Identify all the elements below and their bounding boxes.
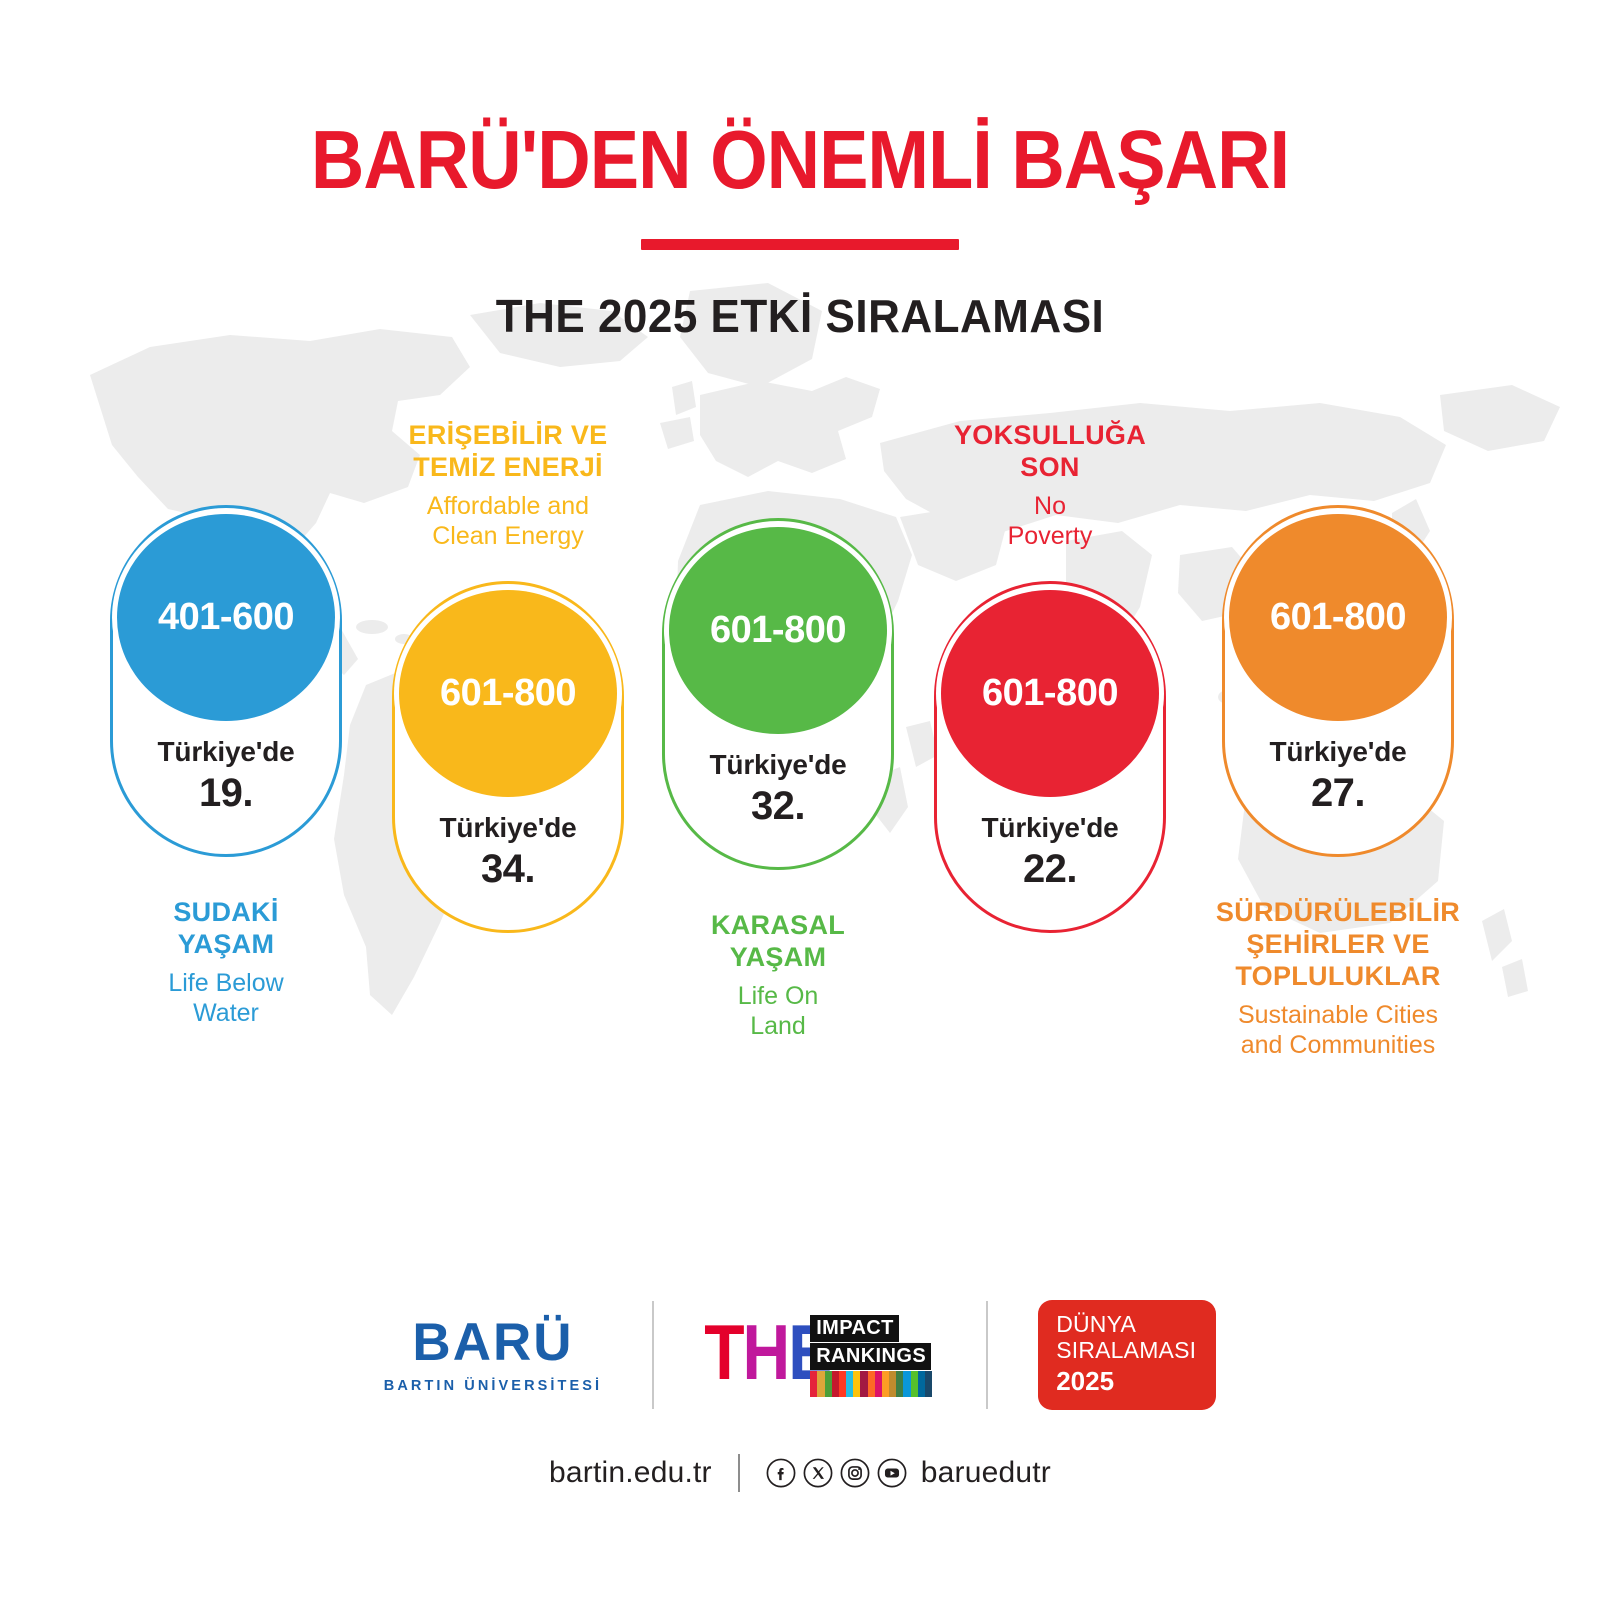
sdg-name-en: Affordable and Clean Energy — [382, 491, 634, 551]
sdg-name-tr: SUDAKİ YAŞAM — [100, 897, 352, 961]
baru-logo-cell: BARÜ BARTIN ÜNİVERSİTESİ — [384, 1296, 602, 1414]
sdg-name-tr-line1: SÜRDÜRÜLEBİLİR — [1212, 897, 1464, 929]
rank-range-bubble: 601-800 — [1229, 514, 1447, 721]
ranking-card-life-on-land: 601-800 Türkiye'de 32. KARASAL YAŞAM Lif… — [652, 518, 904, 1041]
rank-value: 22. — [937, 847, 1163, 892]
ranking-cards: 401-600 Türkiye'de 19. SUDAKİ YAŞAM Life… — [0, 400, 1600, 1190]
sdg-name-tr-line2: YAŞAM — [652, 942, 904, 974]
sdg-name-en-line1: Life Below — [100, 968, 352, 998]
sdg-name-en: Sustainable Cities and Communities — [1212, 1000, 1464, 1060]
baru-wordmark: BARÜ — [412, 1316, 573, 1369]
card-capsule: 401-600 Türkiye'de 19. — [110, 505, 342, 857]
page-title: BARÜ'DEN ÖNEMLİ BAŞARI — [0, 112, 1600, 207]
sdg-label-group: ERİŞEBİLİR VE TEMİZ ENERJİ Affordable an… — [382, 420, 634, 551]
sdg-name-en: Life On Land — [652, 981, 904, 1041]
rank-label: Türkiye'de — [665, 749, 891, 781]
sdg-name-en-line2: and Communities — [1212, 1030, 1464, 1060]
rank-range: 601-800 — [1270, 596, 1406, 639]
contact-row: bartin.edu.tr — [0, 1454, 1600, 1492]
the-impact-rankings-logo[interactable]: THE IMPACT RANKINGS — [704, 1309, 936, 1401]
logo-divider-1 — [652, 1301, 654, 1409]
x-icon[interactable] — [803, 1458, 833, 1488]
sdg-name-tr-line1: KARASAL — [652, 910, 904, 942]
sdg-name-en-line1: Affordable and — [382, 491, 634, 521]
rank-label: Türkiye'de — [113, 736, 339, 768]
sdg-label-group: SUDAKİ YAŞAM Life Below Water — [100, 897, 352, 1028]
rank-range-bubble: 601-800 — [399, 590, 617, 797]
national-rank-block: Türkiye'de 32. — [665, 749, 891, 829]
sdg-name-tr-line2: YAŞAM — [100, 929, 352, 961]
card-capsule: 601-800 Türkiye'de 27. — [1222, 505, 1454, 857]
poster-header: BARÜ'DEN ÖNEMLİ BAŞARI THE 2025 ETKİ SIR… — [0, 0, 1600, 342]
sdg-name-tr-line1: YOKSULLUĞA — [924, 420, 1176, 452]
logo-divider-2 — [986, 1301, 988, 1409]
badge-line-2: SIRALAMASI — [1056, 1338, 1196, 1364]
card-capsule: 601-800 Türkiye'de 22. — [934, 581, 1166, 933]
sdg-name-tr-line1: ERİŞEBİLİR VE — [382, 420, 634, 452]
rank-range: 401-600 — [158, 596, 294, 639]
sdg-name-en: No Poverty — [924, 491, 1176, 551]
the-tag-impact: IMPACT — [810, 1315, 899, 1342]
rank-label: Türkiye'de — [937, 812, 1163, 844]
rank-value: 19. — [113, 771, 339, 816]
sdg-color-bars — [810, 1371, 932, 1397]
rank-value: 32. — [665, 784, 891, 829]
sdg-name-tr-line2: ŞEHİRLER VE — [1212, 929, 1464, 961]
national-rank-block: Türkiye'de 34. — [395, 812, 621, 892]
facebook-icon[interactable] — [766, 1458, 796, 1488]
world-ranking-badge: DÜNYA SIRALAMASI 2025 — [1038, 1300, 1216, 1410]
world-ranking-badge-cell: DÜNYA SIRALAMASI 2025 — [1038, 1296, 1216, 1414]
ranking-card-sustainable-cities-and-communities: 601-800 Türkiye'de 27. SÜRDÜRÜLEBİLİR ŞE… — [1212, 505, 1464, 1060]
sdg-name-tr: ERİŞEBİLİR VE TEMİZ ENERJİ — [382, 420, 634, 484]
badge-year: 2025 — [1056, 1367, 1196, 1396]
sdg-name-tr-line1: SUDAKİ — [100, 897, 352, 929]
poster-footer: BARÜ BARTIN ÜNİVERSİTESİ THE IMPACT RANK… — [0, 1290, 1600, 1492]
national-rank-block: Türkiye'de 27. — [1225, 736, 1451, 816]
infographic-poster: BARÜ'DEN ÖNEMLİ BAŞARI THE 2025 ETKİ SIR… — [0, 0, 1600, 1600]
sdg-label-group: YOKSULLUĞA SON No Poverty — [924, 420, 1176, 551]
rank-label: Türkiye'de — [1225, 736, 1451, 768]
sdg-name-tr-line2: SON — [924, 452, 1176, 484]
sdg-name-en-line2: Poverty — [924, 521, 1176, 551]
title-divider — [641, 239, 959, 250]
rank-range-bubble: 601-800 — [941, 590, 1159, 797]
rank-range: 601-800 — [440, 672, 576, 715]
youtube-icon[interactable] — [877, 1458, 907, 1488]
ranking-card-no-poverty: YOKSULLUĞA SON No Poverty 601-800 Türkiy… — [924, 420, 1176, 933]
rank-range-bubble: 601-800 — [669, 527, 887, 734]
rank-label: Türkiye'de — [395, 812, 621, 844]
sdg-label-group: KARASAL YAŞAM Life On Land — [652, 910, 904, 1041]
the-tag-rankings: RANKINGS — [810, 1343, 931, 1370]
contact-divider — [738, 1454, 740, 1492]
sdg-label-group: SÜRDÜRÜLEBİLİR ŞEHİRLER VE TOPLULUKLAR S… — [1212, 897, 1464, 1060]
baru-subtitle: BARTIN ÜNİVERSİTESİ — [384, 1378, 602, 1394]
baru-logo[interactable]: BARÜ BARTIN ÜNİVERSİTESİ — [384, 1316, 602, 1394]
sdg-name-en-line1: No — [924, 491, 1176, 521]
rank-value: 34. — [395, 847, 621, 892]
logo-row: BARÜ BARTIN ÜNİVERSİTESİ THE IMPACT RANK… — [0, 1290, 1600, 1420]
badge-line-1: DÜNYA — [1056, 1312, 1196, 1338]
ranking-card-life-below-water: 401-600 Türkiye'de 19. SUDAKİ YAŞAM Life… — [100, 505, 352, 1028]
card-capsule: 601-800 Türkiye'de 32. — [662, 518, 894, 870]
national-rank-block: Türkiye'de 22. — [937, 812, 1163, 892]
instagram-icon[interactable] — [840, 1458, 870, 1488]
website-link[interactable]: bartin.edu.tr — [549, 1456, 712, 1490]
sdg-name-tr: KARASAL YAŞAM — [652, 910, 904, 974]
sdg-name-en-line2: Clean Energy — [382, 521, 634, 551]
sdg-name-tr: SÜRDÜRÜLEBİLİR ŞEHİRLER VE TOPLULUKLAR — [1212, 897, 1464, 993]
the-impact-rankings-logo-cell: THE IMPACT RANKINGS — [704, 1296, 936, 1414]
sdg-name-en-line1: Life On — [652, 981, 904, 1011]
sdg-name-tr-line3: TOPLULUKLAR — [1212, 961, 1464, 993]
page-subtitle: THE 2025 ETKİ SIRALAMASI — [0, 291, 1600, 344]
sdg-name-en-line1: Sustainable Cities — [1212, 1000, 1464, 1030]
social-handle[interactable]: baruedutr — [921, 1456, 1051, 1490]
sdg-name-en-line2: Water — [100, 998, 352, 1028]
sdg-name-en: Life Below Water — [100, 968, 352, 1028]
sdg-name-tr-line2: TEMİZ ENERJİ — [382, 452, 634, 484]
rank-range: 601-800 — [710, 609, 846, 652]
ranking-card-affordable-and-clean-energy: ERİŞEBİLİR VE TEMİZ ENERJİ Affordable an… — [382, 420, 634, 933]
rank-range-bubble: 401-600 — [117, 514, 335, 721]
social-icon-group — [766, 1458, 907, 1488]
national-rank-block: Türkiye'de 19. — [113, 736, 339, 816]
sdg-name-tr: YOKSULLUĞA SON — [924, 420, 1176, 484]
rank-value: 27. — [1225, 771, 1451, 816]
card-capsule: 601-800 Türkiye'de 34. — [392, 581, 624, 933]
rank-range: 601-800 — [982, 672, 1118, 715]
sdg-name-en-line2: Land — [652, 1011, 904, 1041]
